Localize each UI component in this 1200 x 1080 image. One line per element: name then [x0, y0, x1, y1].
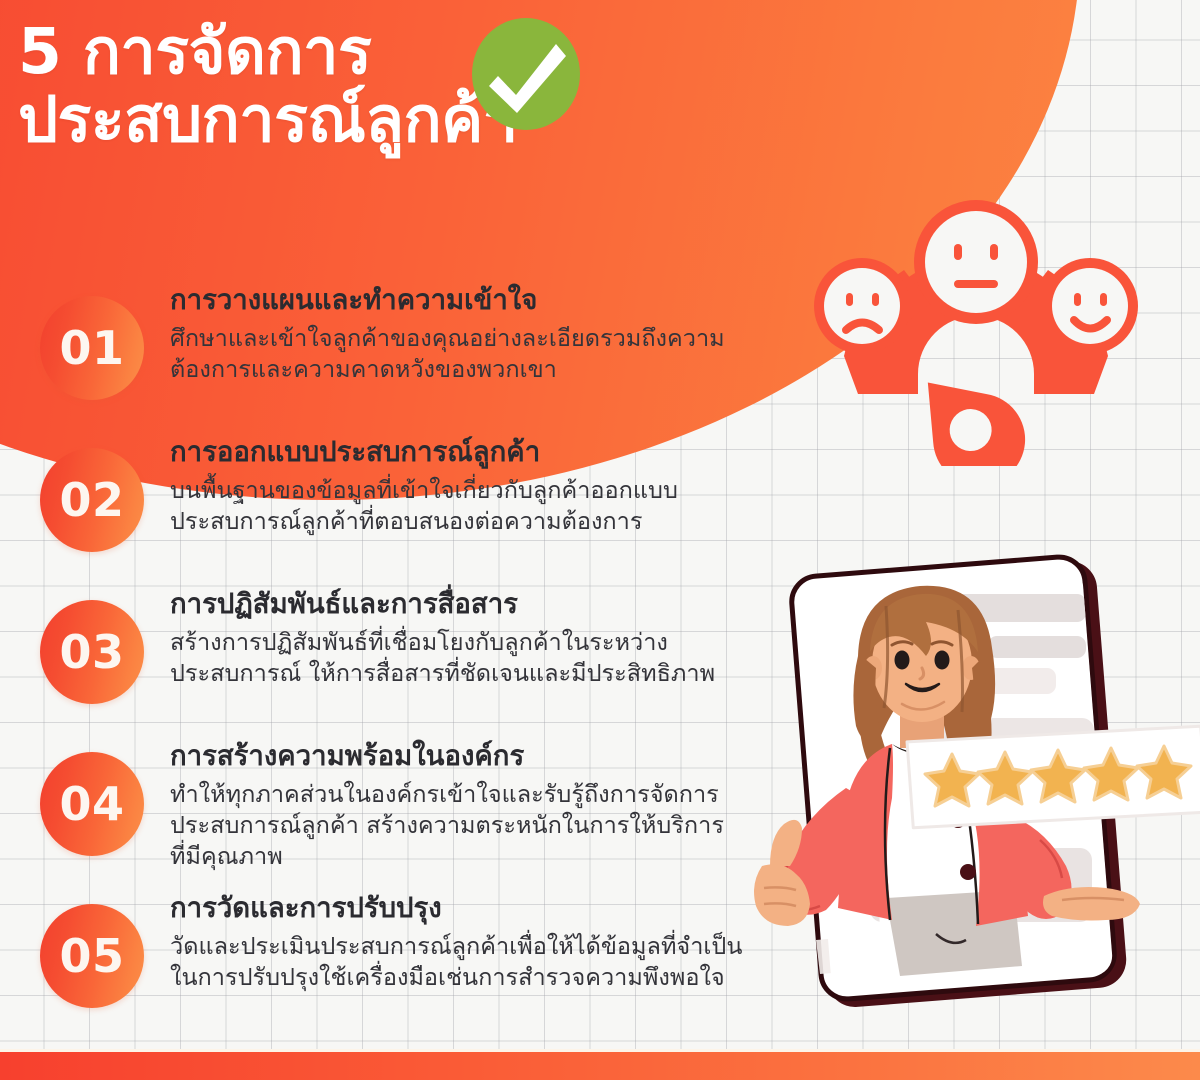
- list-item: 02 การออกแบบประสบการณ์ลูกค้า บนพื้นฐานขอ…: [0, 448, 790, 552]
- step-number-badge: 05: [40, 904, 144, 1008]
- step-description: สร้างการปฏิสัมพันธ์ที่เชื่อมโยงกับลูกค้า…: [170, 627, 715, 689]
- check-circle-icon: [470, 18, 582, 130]
- step-text: การออกแบบประสบการณ์ลูกค้า บนพื้นฐานของข้…: [144, 434, 678, 537]
- step-number-badge: 03: [40, 600, 144, 704]
- neutral-face-icon: [914, 200, 1038, 324]
- bottom-accent-bar: [0, 1052, 1200, 1080]
- step-title: การวัดและการปรับปรุง: [170, 892, 742, 925]
- infographic-poster: 5 การจัดการ ประสบการณ์ลูกค้า 01 การวางแผ…: [0, 0, 1200, 1080]
- step-number-badge: 04: [40, 752, 144, 856]
- step-description: บนพื้นฐานของข้อมูลที่เข้าใจเกี่ยวกับลูกค…: [170, 475, 678, 537]
- step-title: การสร้างความพร้อมในองค์กร: [170, 740, 724, 773]
- step-title: การออกแบบประสบการณ์ลูกค้า: [170, 436, 678, 469]
- list-item: 05 การวัดและการปรับปรุง วัดและประเมินประ…: [0, 904, 790, 1008]
- page-title: 5 การจัดการ ประสบการณ์ลูกค้า: [18, 18, 738, 154]
- happy-face-icon: [1042, 258, 1138, 354]
- step-title: การวางแผนและทำความเข้าใจ: [170, 284, 725, 317]
- satisfaction-gauge-icon: [806, 196, 1146, 466]
- woman-in-tablet-illustration: [740, 548, 1200, 1048]
- list-item: 01 การวางแผนและทำความเข้าใจ ศึกษาและเข้า…: [0, 296, 790, 400]
- step-number-badge: 01: [40, 296, 144, 400]
- list-item: 03 การปฏิสัมพันธ์และการสื่อสาร สร้างการป…: [0, 600, 790, 704]
- step-description: ศึกษาและเข้าใจลูกค้าของคุณอย่างละเอียดรว…: [170, 323, 725, 385]
- step-text: การสร้างความพร้อมในองค์กร ทำให้ทุกภาคส่ว…: [144, 738, 724, 872]
- sad-face-icon: [814, 258, 910, 354]
- step-text: การวางแผนและทำความเข้าใจ ศึกษาและเข้าใจล…: [144, 282, 725, 385]
- step-number-badge: 02: [40, 448, 144, 552]
- step-text: การปฏิสัมพันธ์และการสื่อสาร สร้างการปฏิส…: [144, 586, 715, 689]
- title-line-1: 5 การจัดการ: [18, 18, 738, 86]
- step-description: วัดและประเมินประสบการณ์ลูกค้าเพื่อให้ได้…: [170, 931, 742, 993]
- step-text: การวัดและการปรับปรุง วัดและประเมินประสบก…: [144, 890, 742, 993]
- five-star-rating-card: [907, 726, 1200, 828]
- list-item: 04 การสร้างความพร้อมในองค์กร ทำให้ทุกภาค…: [0, 752, 790, 872]
- step-description: ทำให้ทุกภาคส่วนในองค์กรเข้าใจและรับรู้ถึ…: [170, 779, 724, 872]
- step-title: การปฏิสัมพันธ์และการสื่อสาร: [170, 588, 715, 621]
- title-line-2: ประสบการณ์ลูกค้า: [18, 86, 738, 154]
